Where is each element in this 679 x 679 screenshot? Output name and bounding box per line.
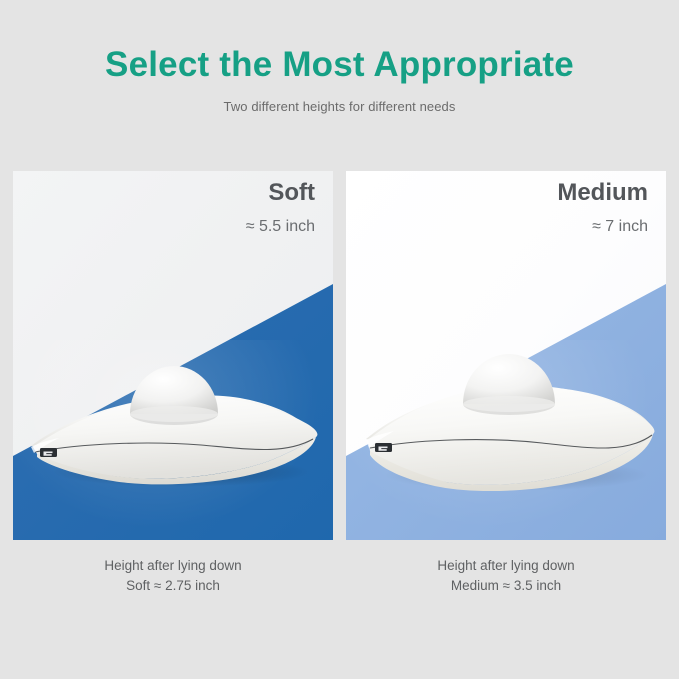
caption-soft: Height after lying down Soft ≈ 2.75 inch (13, 556, 333, 596)
page-subtitle: Two different heights for different need… (0, 85, 679, 114)
panel-name-soft: Soft (246, 179, 315, 208)
caption-medium-line2: Medium ≈ 3.5 inch (346, 576, 666, 596)
head-sphere-base (130, 406, 218, 422)
header: Select the Most Appropriate Two differen… (0, 0, 679, 114)
comparison-panels: Soft ≈ 5.5 inch (13, 171, 666, 540)
caption-medium: Height after lying down Medium ≈ 3.5 inc… (346, 556, 666, 596)
caption-soft-line1: Height after lying down (13, 556, 333, 576)
page-title: Select the Most Appropriate (0, 0, 679, 85)
panel-labels-medium: Medium ≈ 7 inch (557, 179, 648, 236)
caption-medium-line1: Height after lying down (346, 556, 666, 576)
panel-height-medium: ≈ 7 inch (557, 208, 648, 236)
panel-soft[interactable]: Soft ≈ 5.5 inch (13, 171, 333, 540)
panel-height-soft: ≈ 5.5 inch (246, 208, 315, 236)
head-sphere-base (463, 396, 555, 412)
panel-captions: Height after lying down Soft ≈ 2.75 inch… (13, 556, 666, 596)
pillow-brand-tag (375, 443, 392, 452)
panel-medium[interactable]: Medium ≈ 7 inch (346, 171, 666, 540)
product-comparison-page: Select the Most Appropriate Two differen… (0, 0, 679, 679)
pillow-brand-tag (40, 448, 57, 457)
panel-name-medium: Medium (557, 179, 648, 208)
caption-soft-line2: Soft ≈ 2.75 inch (13, 576, 333, 596)
panel-labels-soft: Soft ≈ 5.5 inch (246, 179, 315, 236)
